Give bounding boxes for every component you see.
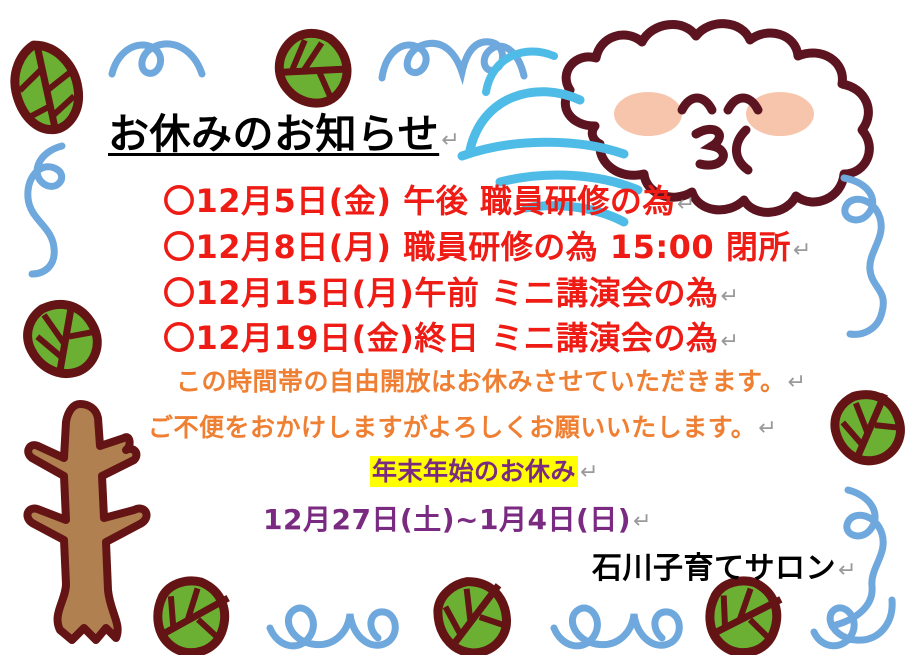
notice-item-2-text: 〇12月8日(月) 職員研修の為 15:00 閉所 — [163, 228, 791, 266]
holiday-period-text: 12月27日(土)~1月4日(日) — [263, 503, 631, 536]
pilcrow-mark: ↵ — [631, 509, 652, 534]
holiday-heading-text: 年末年始のお休み — [370, 456, 578, 487]
signature: 石川子育てサロン↵ — [592, 543, 857, 587]
pilcrow-mark: ↵ — [756, 416, 777, 441]
holiday-heading: 年末年始のお休み↵ — [370, 452, 599, 488]
notice-item-1-text: 〇12月5日(金) 午後 職員研修の為 — [163, 182, 675, 220]
pilcrow-mark: ↵ — [439, 128, 460, 153]
pilcrow-mark: ↵ — [718, 284, 739, 309]
holiday-period: 12月27日(土)~1月4日(日)↵ — [263, 498, 652, 538]
pilcrow-mark: ↵ — [786, 370, 807, 395]
notice-item-3-text: 〇12月15日(月)午前 ミニ講演会の為 — [163, 274, 718, 312]
notice-page: お休みのお知らせ↵ 〇12月5日(金) 午後 職員研修の為↵ 〇12月8日(月)… — [0, 0, 910, 655]
pilcrow-mark: ↵ — [578, 460, 599, 485]
page-title: お休みのお知らせ↵ — [108, 100, 460, 160]
apology-line-1-text: この時間帯の自由開放はお休みさせていただきます。 — [176, 367, 786, 396]
notice-item-2: 〇12月8日(月) 職員研修の為 15:00 閉所↵ — [163, 222, 812, 268]
page-title-text: お休みのお知らせ — [108, 110, 439, 158]
notice-item-4-text: 〇12月19日(金)終日 ミニ講演会の為 — [163, 319, 718, 357]
notice-item-1: 〇12月5日(金) 午後 職員研修の為↵ — [163, 176, 696, 222]
pilcrow-mark: ↵ — [675, 192, 696, 217]
pilcrow-mark: ↵ — [791, 238, 812, 263]
apology-line-2: ご不便をおかけしますがよろしくお願いいたします。↵ — [148, 408, 777, 444]
signature-text: 石川子育てサロン — [592, 551, 836, 586]
pilcrow-mark: ↵ — [718, 329, 739, 354]
apology-line-1: この時間帯の自由開放はお休みさせていただきます。↵ — [176, 362, 806, 398]
notice-item-4: 〇12月19日(金)終日 ミニ講演会の為↵ — [163, 313, 739, 359]
pilcrow-mark: ↵ — [836, 558, 857, 583]
notice-item-3: 〇12月15日(月)午前 ミニ講演会の為↵ — [163, 268, 739, 314]
apology-line-2-text: ご不便をおかけしますがよろしくお願いいたします。 — [148, 413, 756, 442]
notice-content: お休みのお知らせ↵ 〇12月5日(金) 午後 職員研修の為↵ 〇12月8日(月)… — [0, 0, 910, 655]
